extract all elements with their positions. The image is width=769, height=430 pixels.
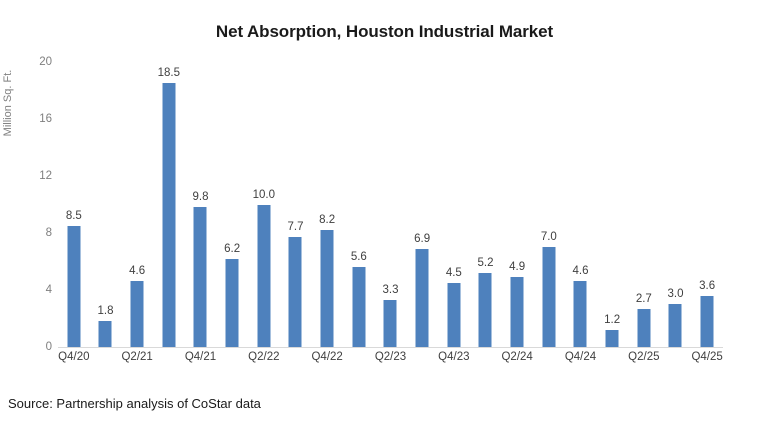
bar-group: 8.2 (311, 62, 343, 347)
bar-value-label: 1.2 (604, 314, 620, 326)
bar-value-label: 3.0 (667, 288, 683, 300)
x-tick-label: Q4/21 (185, 351, 216, 363)
source-note: Source: Partnership analysis of CoStar d… (8, 396, 261, 411)
bar-group: 3.3 (375, 62, 407, 347)
bar[interactable] (321, 230, 334, 347)
bar[interactable] (637, 309, 650, 347)
bar-value-label: 4.6 (129, 265, 145, 277)
y-tick-label: 0 (6, 341, 52, 353)
plot-area: 8.51.84.618.59.86.210.07.78.25.63.36.94.… (58, 62, 723, 347)
x-tick-label: Q4/23 (438, 351, 469, 363)
bar-value-label: 18.5 (158, 67, 180, 79)
bar-value-label: 4.5 (446, 267, 462, 279)
bar-group: 3.6 (691, 62, 723, 347)
bar-value-label: 9.8 (192, 191, 208, 203)
x-axis-tick-labels: Q4/20Q2/21Q4/21Q2/22Q4/22Q2/23Q4/23Q2/24… (58, 351, 723, 375)
bar-value-label: 8.2 (319, 214, 335, 226)
x-tick-label: Q4/24 (565, 351, 596, 363)
bar-group: 3.0 (660, 62, 692, 347)
x-tick-label: Q2/23 (375, 351, 406, 363)
bar-value-label: 8.5 (66, 210, 82, 222)
bar[interactable] (701, 296, 714, 347)
bar-value-label: 3.3 (382, 284, 398, 296)
bar-group: 9.8 (185, 62, 217, 347)
bar-group: 8.5 (58, 62, 90, 347)
x-axis-baseline (58, 347, 723, 348)
bar-value-label: 5.2 (477, 257, 493, 269)
y-tick-label: 16 (6, 113, 52, 125)
bar-value-label: 3.6 (699, 280, 715, 292)
y-axis-tick-labels: 048121620 (0, 0, 52, 430)
bar-group: 4.9 (501, 62, 533, 347)
bar[interactable] (542, 247, 555, 347)
x-tick-label: Q4/20 (58, 351, 89, 363)
bar-group: 10.0 (248, 62, 280, 347)
bar[interactable] (352, 267, 365, 347)
bar-value-label: 2.7 (636, 293, 652, 305)
x-tick-label: Q4/25 (691, 351, 722, 363)
bar-group: 5.6 (343, 62, 375, 347)
x-tick-label: Q2/24 (501, 351, 532, 363)
bar-group: 2.7 (628, 62, 660, 347)
bar[interactable] (194, 207, 207, 347)
bar[interactable] (99, 321, 112, 347)
bar-group: 5.2 (470, 62, 502, 347)
bar-group: 4.6 (121, 62, 153, 347)
bar-value-label: 5.6 (351, 251, 367, 263)
bar[interactable] (289, 237, 302, 347)
bar[interactable] (669, 304, 682, 347)
x-tick-label: Q2/21 (121, 351, 152, 363)
bar-group: 6.2 (216, 62, 248, 347)
bar-value-label: 10.0 (253, 189, 275, 201)
bar-value-label: 4.9 (509, 261, 525, 273)
bar-group: 4.5 (438, 62, 470, 347)
bar-group: 6.9 (406, 62, 438, 347)
y-tick-label: 4 (6, 284, 52, 296)
bar[interactable] (384, 300, 397, 347)
bar[interactable] (67, 226, 80, 347)
bar-group: 4.6 (565, 62, 597, 347)
bar[interactable] (574, 281, 587, 347)
bar-group: 7.7 (280, 62, 312, 347)
net-absorption-bar-chart: Net Absorption, Houston Industrial Marke… (0, 0, 769, 430)
bar[interactable] (257, 205, 270, 348)
bar-value-label: 6.2 (224, 243, 240, 255)
bar-group: 1.2 (596, 62, 628, 347)
y-tick-label: 12 (6, 170, 52, 182)
bar-group: 1.8 (90, 62, 122, 347)
bar[interactable] (511, 277, 524, 347)
bar-value-label: 7.7 (287, 221, 303, 233)
x-tick-label: Q2/25 (628, 351, 659, 363)
chart-title: Net Absorption, Houston Industrial Marke… (0, 22, 769, 42)
y-tick-label: 20 (6, 56, 52, 68)
bar[interactable] (226, 259, 239, 347)
bar-group: 7.0 (533, 62, 565, 347)
x-tick-label: Q2/22 (248, 351, 279, 363)
bar[interactable] (447, 283, 460, 347)
bar-value-label: 6.9 (414, 233, 430, 245)
y-tick-label: 8 (6, 227, 52, 239)
x-tick-label: Q4/22 (311, 351, 342, 363)
bar[interactable] (416, 249, 429, 347)
bar[interactable] (131, 281, 144, 347)
bar-group: 18.5 (153, 62, 185, 347)
bar-value-label: 7.0 (541, 231, 557, 243)
bar[interactable] (162, 83, 175, 347)
bar[interactable] (606, 330, 619, 347)
bar[interactable] (479, 273, 492, 347)
bar-value-label: 1.8 (97, 305, 113, 317)
bar-value-label: 4.6 (572, 265, 588, 277)
